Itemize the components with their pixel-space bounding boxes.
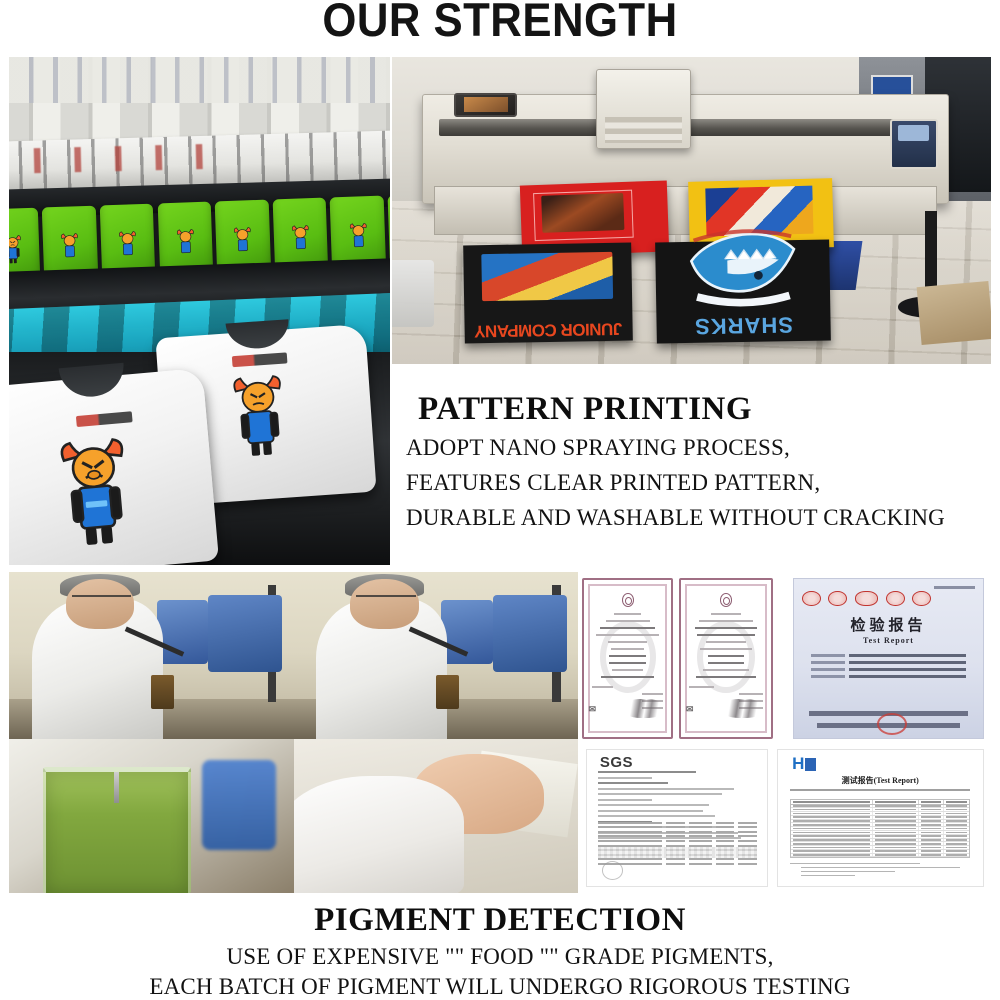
tshirt-collar	[58, 363, 126, 399]
certificate-inspection-report: 检验报告 Test Report	[793, 578, 983, 739]
white-sleeve	[294, 776, 465, 893]
cqc-badge-icon	[802, 591, 821, 607]
report-number-line	[934, 586, 975, 589]
certificate-seal-icon	[622, 593, 634, 607]
blue-mixer-motor	[208, 595, 282, 672]
photo-scientist-right	[294, 572, 579, 739]
hanging-screens	[9, 57, 390, 103]
bull-mascot-icon	[175, 219, 196, 267]
cma-badge-icon	[886, 591, 905, 607]
inspection-report-fields	[811, 654, 966, 682]
photo-scientist-left	[9, 572, 294, 739]
pigment-detection-line-1: USE OF EXPENSIVE "" FOOD "" GRADE PIGMEN…	[0, 942, 1000, 972]
certificate-signature	[722, 699, 763, 718]
accreditation-badges	[802, 591, 949, 607]
control-panel[interactable]	[890, 119, 937, 169]
certificate-mark-icon: ✉	[588, 704, 595, 718]
bull-mascot-icon	[232, 217, 253, 265]
bull-mascot-icon	[53, 429, 137, 555]
cardboard-box	[917, 281, 991, 345]
bull-mascot-icon	[229, 367, 290, 464]
certificate-seal-icon	[720, 593, 732, 607]
sharks-label: SHARKS	[663, 315, 823, 340]
cnas-badge-icon	[855, 591, 879, 607]
certificate-body-text	[592, 613, 663, 704]
h-report-notes	[790, 863, 970, 879]
certificate-h-test-report: H 测试报告(Test Report)	[777, 749, 984, 887]
eyeglasses-icon	[72, 595, 132, 602]
certificate-mark-icon: ✉	[686, 704, 693, 718]
page-title: OUR STRENGTH	[35, 0, 965, 44]
pigment-detection-line-2: EACH BATCH OF PIGMENT WILL UNDERGO RIGOR…	[0, 972, 1000, 1000]
h-lab-logo-letter: H	[792, 754, 804, 773]
pattern-printing-line-1: ADOPT NANO SPRAYING PROCESS,	[406, 430, 1000, 465]
ccc-badge-icon	[828, 591, 847, 607]
certificate-iso-chinese: ✉	[582, 578, 673, 739]
printed-tshirt-front	[9, 368, 219, 565]
photo-lab-collage	[9, 572, 578, 893]
scientist-head	[66, 579, 134, 629]
eyeglasses-icon	[356, 595, 416, 602]
bull-mascot-icon	[60, 223, 81, 271]
h-report-title: 测试报告(Test Report)	[778, 775, 983, 786]
blue-equipment-blur	[202, 760, 276, 849]
photo-hand-fabric-check	[294, 739, 579, 893]
photo-dtg-printer: JUNIOR COMPANY SHARKS	[392, 57, 991, 364]
h-lab-logo: H	[792, 754, 816, 774]
pigment-detection-heading: PIGMENT DETECTION	[0, 898, 1000, 942]
bull-mascot-icon	[347, 213, 368, 261]
blue-mixer-motor	[493, 595, 567, 672]
sample-bottle	[436, 675, 459, 708]
pattern-printing-line-3: DURABLE AND WASHABLE WITHOUT CRACKING	[406, 500, 1000, 535]
sgs-disclaimer-block	[598, 847, 757, 858]
bull-mascot-icon	[9, 225, 23, 273]
blue-mixer-motor	[441, 600, 492, 663]
bull-mascot-icon	[117, 221, 138, 269]
cal-badge-icon	[912, 591, 931, 607]
pattern-printing-heading: PATTERN PRINTING	[418, 388, 1000, 430]
shark-emblem-icon	[677, 253, 807, 318]
printed-shirt-junior-company: JUNIOR COMPANY	[463, 243, 632, 344]
brand-wordmark	[75, 411, 132, 427]
tshirt-collar	[226, 319, 291, 350]
brand-wordmark	[233, 353, 288, 367]
print-head-carriage	[596, 69, 691, 149]
table-row	[791, 854, 969, 858]
sgs-results-table	[598, 822, 757, 868]
red-official-stamp-icon	[877, 713, 907, 735]
pattern-printing-line-2: FEATURES CLEAR PRINTED PATTERN,	[406, 465, 1000, 500]
junior-company-label: JUNIOR COMPANY	[474, 307, 622, 339]
photo-certificates: ✉ ✉	[578, 572, 992, 893]
inspection-report-title-cn: 检验报告	[794, 614, 982, 635]
certificate-signature	[624, 699, 664, 718]
inspection-report-title-en: Test Report	[794, 636, 982, 645]
white-bucket	[392, 260, 434, 328]
bull-mascot-icon	[290, 215, 311, 263]
upper-row-prints	[16, 143, 230, 174]
sgs-stamp-icon	[602, 861, 624, 880]
photo-screen-printing	[9, 57, 390, 565]
glass-beaker-with-pigment	[43, 767, 191, 893]
printed-shirt-sharks: SHARKS	[655, 240, 830, 344]
stirring-rod	[114, 772, 118, 804]
photo-green-pigment-beaker	[9, 739, 294, 893]
poster-root: OUR STRENGTH	[0, 0, 1000, 1000]
pattern-printing-text-block: PATTERN PRINTING ADOPT NANO SPRAYING PRO…	[392, 388, 1000, 535]
h-report-subheader	[790, 789, 970, 791]
tablet-display[interactable]	[454, 93, 517, 117]
scientist-head	[350, 579, 418, 629]
sample-bottle	[151, 675, 174, 708]
certificate-body-text	[689, 613, 762, 704]
h-report-table	[790, 799, 970, 859]
certificate-sgs-report: SGS	[586, 749, 768, 887]
certificate-iso-english: ✉	[679, 578, 772, 739]
pigment-detection-text-block: PIGMENT DETECTION USE OF EXPENSIVE "" FO…	[0, 898, 1000, 1000]
junior-company-artwork	[482, 252, 614, 301]
sgs-logo: SGS	[600, 754, 633, 771]
h-lab-logo-mark	[805, 758, 816, 771]
red-shirt-artwork	[541, 193, 624, 233]
